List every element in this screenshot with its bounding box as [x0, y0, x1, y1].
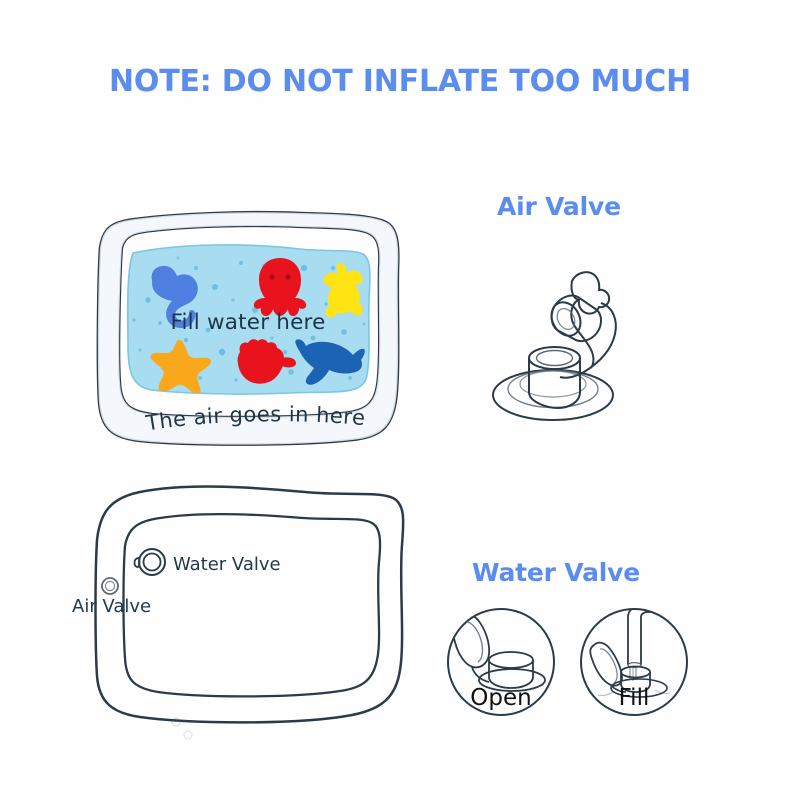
mat-water-valve-label: Water Valve	[173, 554, 281, 575]
air-valve-icon	[102, 578, 118, 594]
mat-outline-illustration: Water Valve Air Valve	[72, 487, 403, 739]
water-valve-fill-panel: Fill	[581, 606, 687, 715]
note-title: NOTE: DO NOT INFLATE TOO MUCH	[0, 64, 800, 99]
fill-panel-label: Fill	[619, 685, 650, 711]
fill-water-here-label: Fill water here	[170, 310, 325, 335]
water-valve-icon	[134, 549, 165, 575]
mat-outline-inner	[124, 514, 381, 696]
mat-air-valve-label: Air Valve	[72, 596, 151, 617]
open-panel-label: Open	[470, 685, 531, 711]
instruction-sheet: NOTE: DO NOT INFLATE TOO MUCH Air Valve …	[0, 0, 800, 800]
water-valve-open-panel: Open	[448, 609, 554, 715]
water-valve-heading: Water Valve	[472, 558, 640, 587]
air-valve-heading: Air Valve	[497, 192, 621, 221]
air-valve-illustration	[493, 272, 616, 420]
water-mat-illustration: Fill water here The air goes in here	[98, 212, 398, 444]
